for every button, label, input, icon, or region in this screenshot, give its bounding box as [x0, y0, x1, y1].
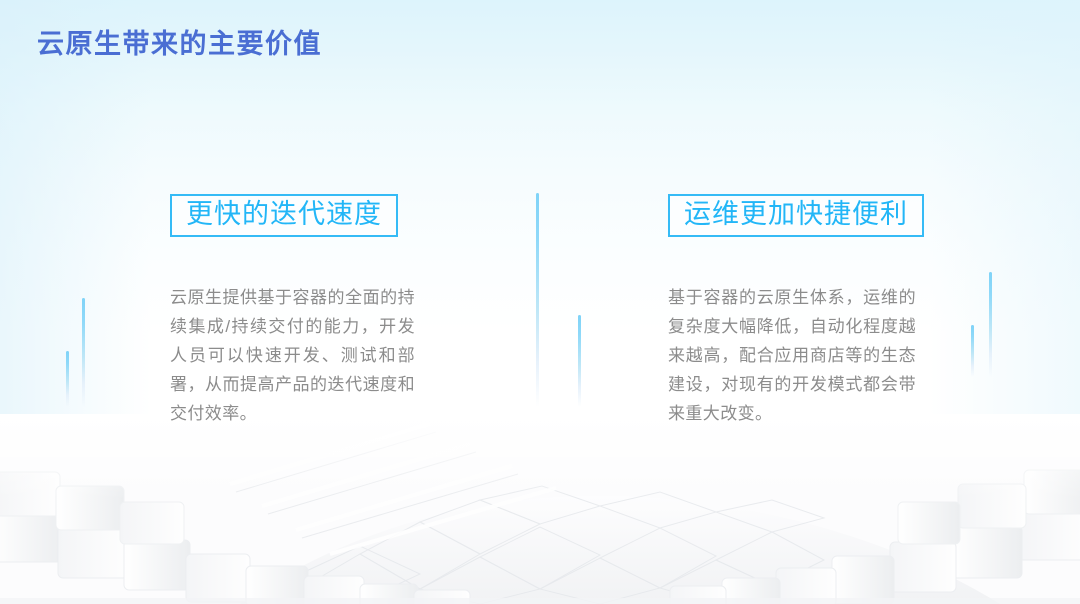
column-right-heading-text: 运维更加快捷便利: [684, 199, 908, 229]
slide-canvas: 云原生带来的主要价值 更快的迭代速度 云原生提供基于容器的全面的持续集成/持续交…: [0, 0, 1080, 604]
value-column-left: 更快的迭代速度 云原生提供基于容器的全面的持续集成/持续交付的能力，开发人员可以…: [170, 194, 420, 428]
accent-line-center-short: [578, 315, 581, 407]
accent-line-right-tall: [989, 272, 992, 377]
accent-line-left-short: [66, 351, 69, 407]
column-right-body-text: 基于容器的云原生体系，运维的复杂度大幅降低，自动化程度越来越高，配合应用商店等的…: [668, 283, 916, 428]
column-left-heading-box: 更快的迭代速度: [170, 194, 398, 237]
accent-line-center-tall: [536, 193, 539, 407]
column-left-heading-text: 更快的迭代速度: [186, 199, 382, 229]
accent-line-left-tall: [82, 298, 85, 407]
column-left-body-text: 云原生提供基于容器的全面的持续集成/持续交付的能力，开发人员可以快速开发、测试和…: [170, 283, 415, 428]
accent-line-right-short: [971, 325, 974, 377]
page-title: 云原生带来的主要价值: [37, 22, 322, 61]
column-right-heading-box: 运维更加快捷便利: [668, 194, 924, 237]
value-column-right: 运维更加快捷便利 基于容器的云原生体系，运维的复杂度大幅降低，自动化程度越来越高…: [668, 194, 918, 428]
voxel-landscape-graphic: [0, 414, 1080, 604]
